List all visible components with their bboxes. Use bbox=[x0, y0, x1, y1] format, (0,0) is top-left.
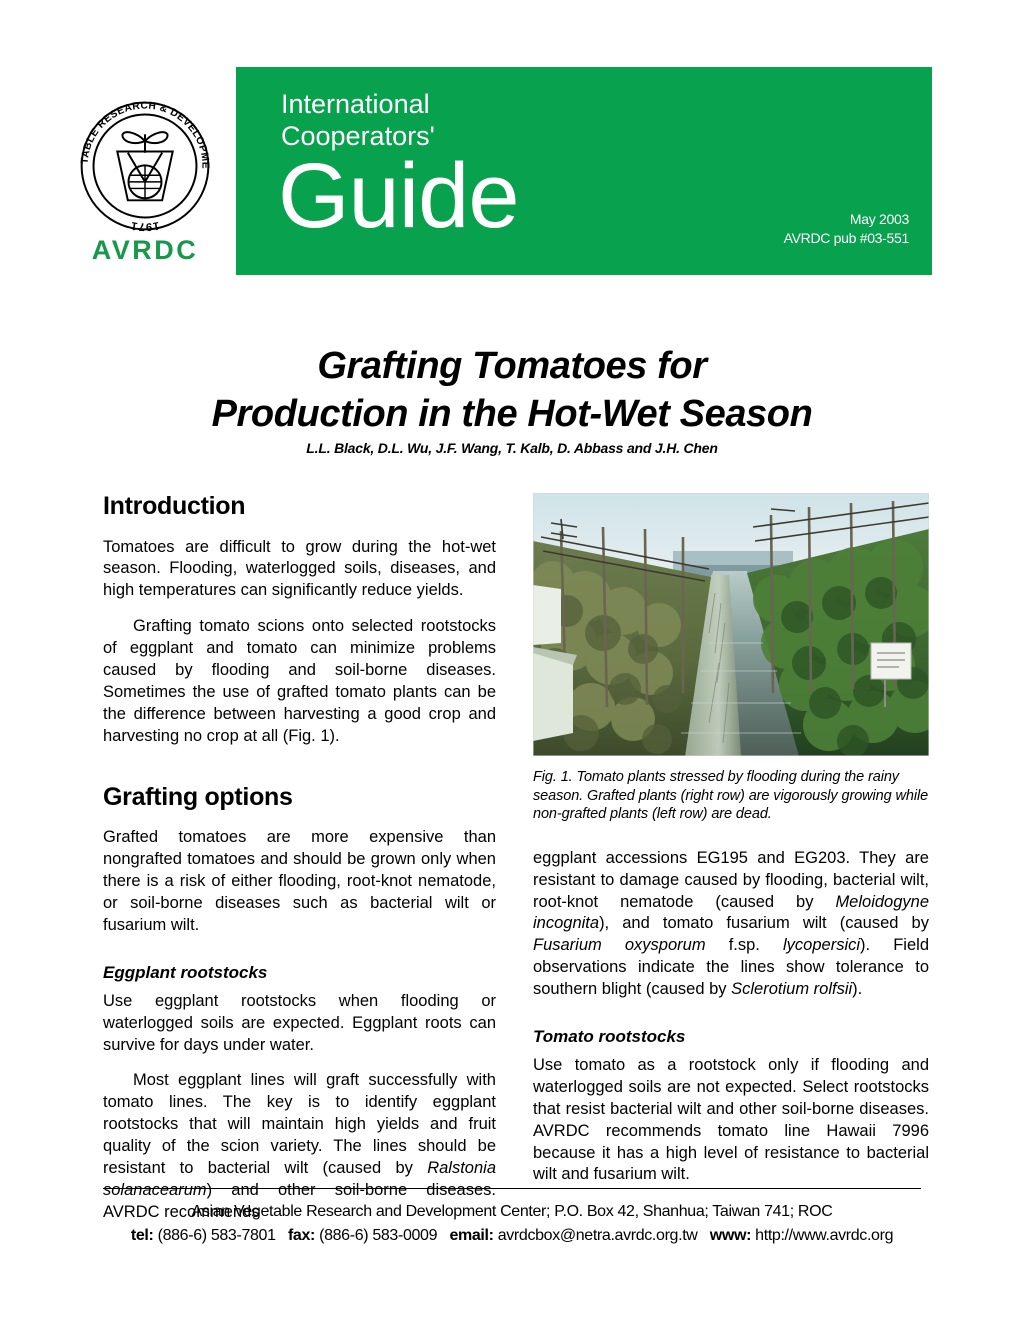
footer-address: Asian Vegetable Research and Development… bbox=[103, 1200, 921, 1224]
section-eggplant-rootstocks: Eggplant rootstocks Use eggplant rootsto… bbox=[103, 963, 496, 1224]
avrdc-seal-icon: ASIAN VEGETABLE RESEARCH & DEVELOPMENT C… bbox=[79, 100, 211, 232]
footer-tel-label: tel: bbox=[131, 1227, 154, 1244]
section-introduction: Introduction Tomatoes are difficult to g… bbox=[103, 493, 496, 748]
footer-www-value[interactable]: http://www.avrdc.org bbox=[755, 1227, 893, 1244]
eggplant-rootstocks-paragraph-1: Use eggplant rootstocks when flooding or… bbox=[103, 991, 496, 1057]
grafting-options-heading: Grafting options bbox=[103, 784, 496, 812]
eggplant-rootstocks-heading: Eggplant rootstocks bbox=[103, 963, 496, 983]
banner-wordmark: Guide bbox=[278, 153, 519, 240]
left-column: Introduction Tomatoes are difficult to g… bbox=[103, 493, 496, 1224]
cont-c: f.sp. bbox=[706, 936, 783, 954]
right-column-body: eggplant accessions EG195 and EG203. The… bbox=[533, 848, 929, 1187]
grafting-options-paragraph-1: Grafted tomatoes are more expensive than… bbox=[103, 827, 496, 937]
masthead: ASIAN VEGETABLE RESEARCH & DEVELOPMENT C… bbox=[0, 0, 1024, 290]
publication-date: May 2003 bbox=[784, 210, 909, 229]
footer-email-label: email: bbox=[449, 1227, 493, 1244]
page-title-line2: Production in the Hot-Wet Season bbox=[0, 391, 1024, 439]
footer-www-label: www: bbox=[710, 1227, 751, 1244]
introduction-paragraph-2: Grafting tomato scions onto selected roo… bbox=[103, 616, 496, 748]
right-column: Fig. 1. Tomato plants stressed by floodi… bbox=[533, 493, 929, 1186]
section-tomato-rootstocks: Tomato rootstocks Use tomato as a rootst… bbox=[533, 1027, 929, 1186]
footer-email-value[interactable]: avrdcbox@netra.avrdc.org.tw bbox=[498, 1227, 698, 1244]
footer-contacts: tel: (886-6) 583-7801 fax: (886-6) 583-0… bbox=[103, 1224, 921, 1248]
section-grafting-options: Grafting options Grafted tomatoes are mo… bbox=[103, 784, 496, 937]
figure-1-caption: Fig. 1. Tomato plants stressed by floodi… bbox=[533, 768, 929, 824]
introduction-paragraph-1: Tomatoes are difficult to grow during th… bbox=[103, 537, 496, 603]
cont-italic-4: Sclerotium rolfsii bbox=[731, 980, 852, 998]
footer-fax-label: fax: bbox=[288, 1227, 315, 1244]
avrdc-logo: ASIAN VEGETABLE RESEARCH & DEVELOPMENT C… bbox=[70, 100, 220, 264]
tomato-rootstocks-paragraph-1: Use tomato as a rootstock only if floodi… bbox=[533, 1055, 929, 1187]
cont-italic-3: lycopersici bbox=[783, 936, 860, 954]
footer-tel-value: (886-6) 583-7801 bbox=[158, 1227, 276, 1244]
cont-e: ). bbox=[852, 980, 862, 998]
figure-1: Fig. 1. Tomato plants stressed by floodi… bbox=[533, 493, 929, 824]
banner-kicker-line1: International bbox=[281, 89, 435, 121]
cont-italic-2: Fusarium oxysporum bbox=[533, 936, 706, 954]
footer-divider bbox=[103, 1188, 921, 1189]
footer-fax-value: (886-6) 583-0009 bbox=[319, 1227, 437, 1244]
guide-banner: International Cooperators' Guide May 200… bbox=[236, 67, 932, 275]
tomato-rootstocks-heading: Tomato rootstocks bbox=[533, 1027, 929, 1047]
avrdc-wordmark: AVRDC bbox=[70, 237, 220, 264]
author-list: L.L. Black, D.L. Wu, J.F. Wang, T. Kalb,… bbox=[0, 440, 1024, 456]
publication-number: AVRDC pub #03-551 bbox=[784, 229, 909, 248]
cont-b: ), and tomato fusarium wilt (caused by bbox=[599, 914, 929, 932]
banner-kicker: International Cooperators' bbox=[281, 89, 435, 152]
page-title: Grafting Tomatoes for Production in the … bbox=[0, 343, 1024, 438]
footer: Asian Vegetable Research and Development… bbox=[103, 1188, 921, 1248]
introduction-heading: Introduction bbox=[103, 493, 496, 521]
banner-meta: May 2003 AVRDC pub #03-551 bbox=[784, 210, 909, 249]
page-title-line1: Grafting Tomatoes for bbox=[0, 343, 1024, 391]
eggplant-accessions-paragraph: eggplant accessions EG195 and EG203. The… bbox=[533, 848, 929, 1002]
flooded-tomato-field-photo bbox=[533, 493, 929, 756]
